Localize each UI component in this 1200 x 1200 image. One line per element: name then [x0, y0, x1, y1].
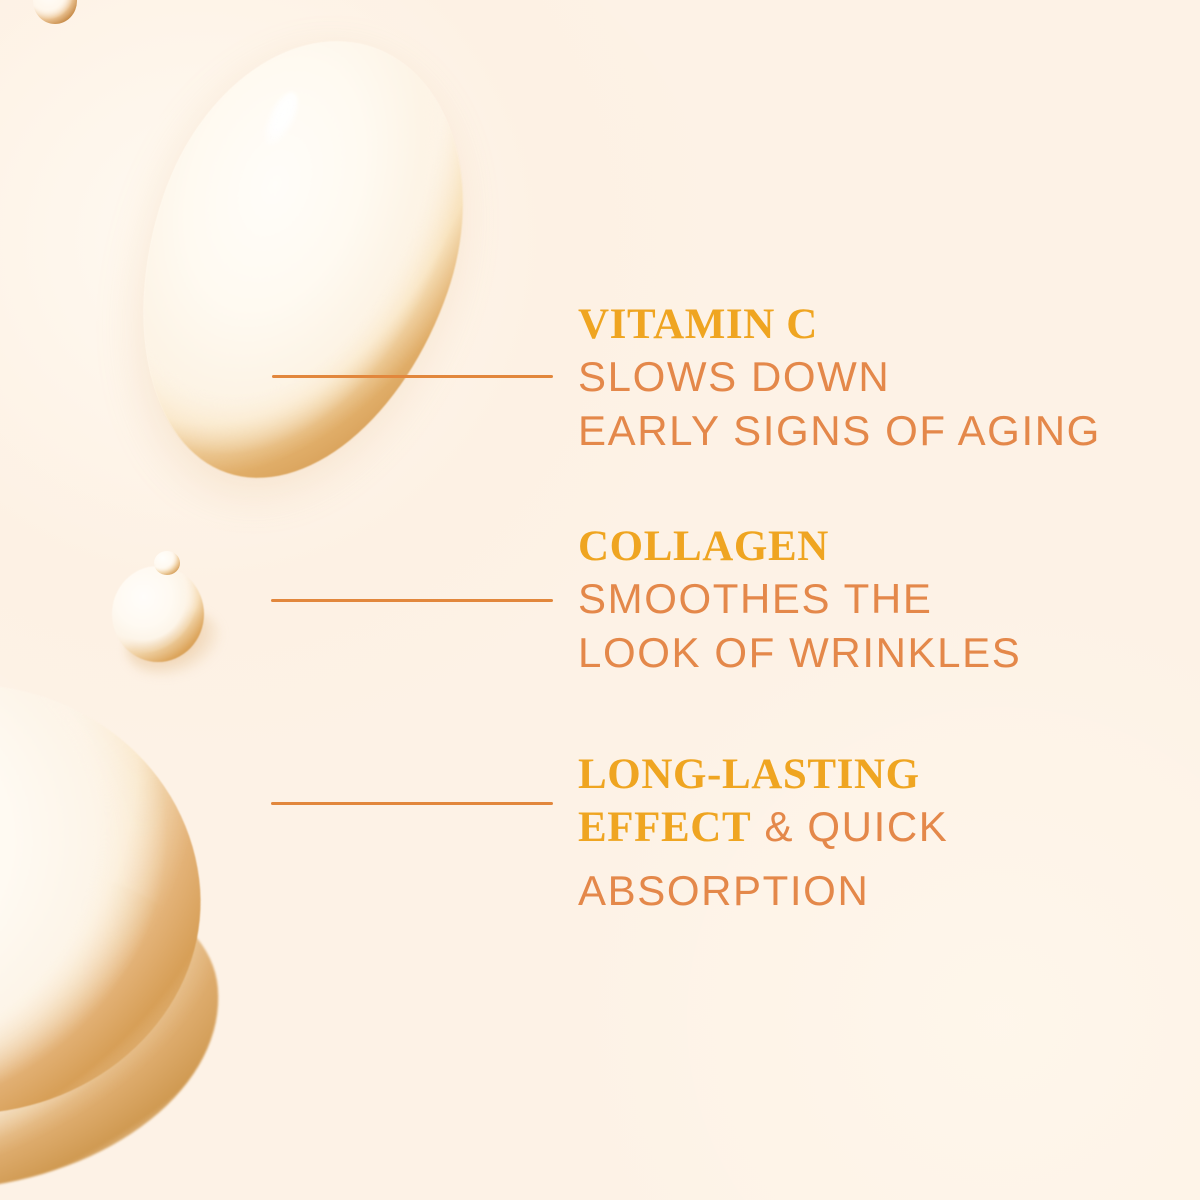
feature-body-line-2-collagen: LOOK OF WRINKLES — [578, 626, 1176, 680]
feature-mixed-line: EFFECT & QUICK — [578, 800, 1176, 864]
connector-rule-long-lasting-effect — [271, 802, 553, 805]
feature-list: VITAMIN C SLOWS DOWN EARLY SIGNS OF AGIN… — [0, 0, 1200, 1200]
feature-body-line-1-vitamin-c: SLOWS DOWN — [578, 350, 1176, 404]
feature-body-line-1-collagen: SMOOTHES THE — [578, 572, 1176, 626]
connector-rule-vitamin-c — [272, 375, 553, 378]
feature-body-line-2-vitamin-c: EARLY SIGNS OF AGING — [578, 404, 1176, 458]
feature-copy-collagen: COLLAGEN SMOOTHES THE LOOK OF WRINKLES — [578, 522, 1176, 680]
feature-headline-long-lasting: LONG-LASTING — [578, 750, 1176, 800]
feature-copy-long-lasting-effect: LONG-LASTING EFFECT & QUICK ABSORPTION — [578, 750, 1176, 918]
feature-body-line-absorption: ABSORPTION — [578, 864, 1176, 918]
infographic-canvas: VITAMIN C SLOWS DOWN EARLY SIGNS OF AGIN… — [0, 0, 1200, 1200]
feature-headline-effect: EFFECT — [578, 804, 751, 851]
feature-headline-vitamin-c: VITAMIN C — [578, 300, 1176, 350]
feature-body-quick: & QUICK — [751, 803, 948, 850]
feature-copy-vitamin-c: VITAMIN C SLOWS DOWN EARLY SIGNS OF AGIN… — [578, 300, 1176, 458]
feature-headline-collagen: COLLAGEN — [578, 522, 1176, 572]
connector-rule-collagen — [271, 599, 553, 602]
